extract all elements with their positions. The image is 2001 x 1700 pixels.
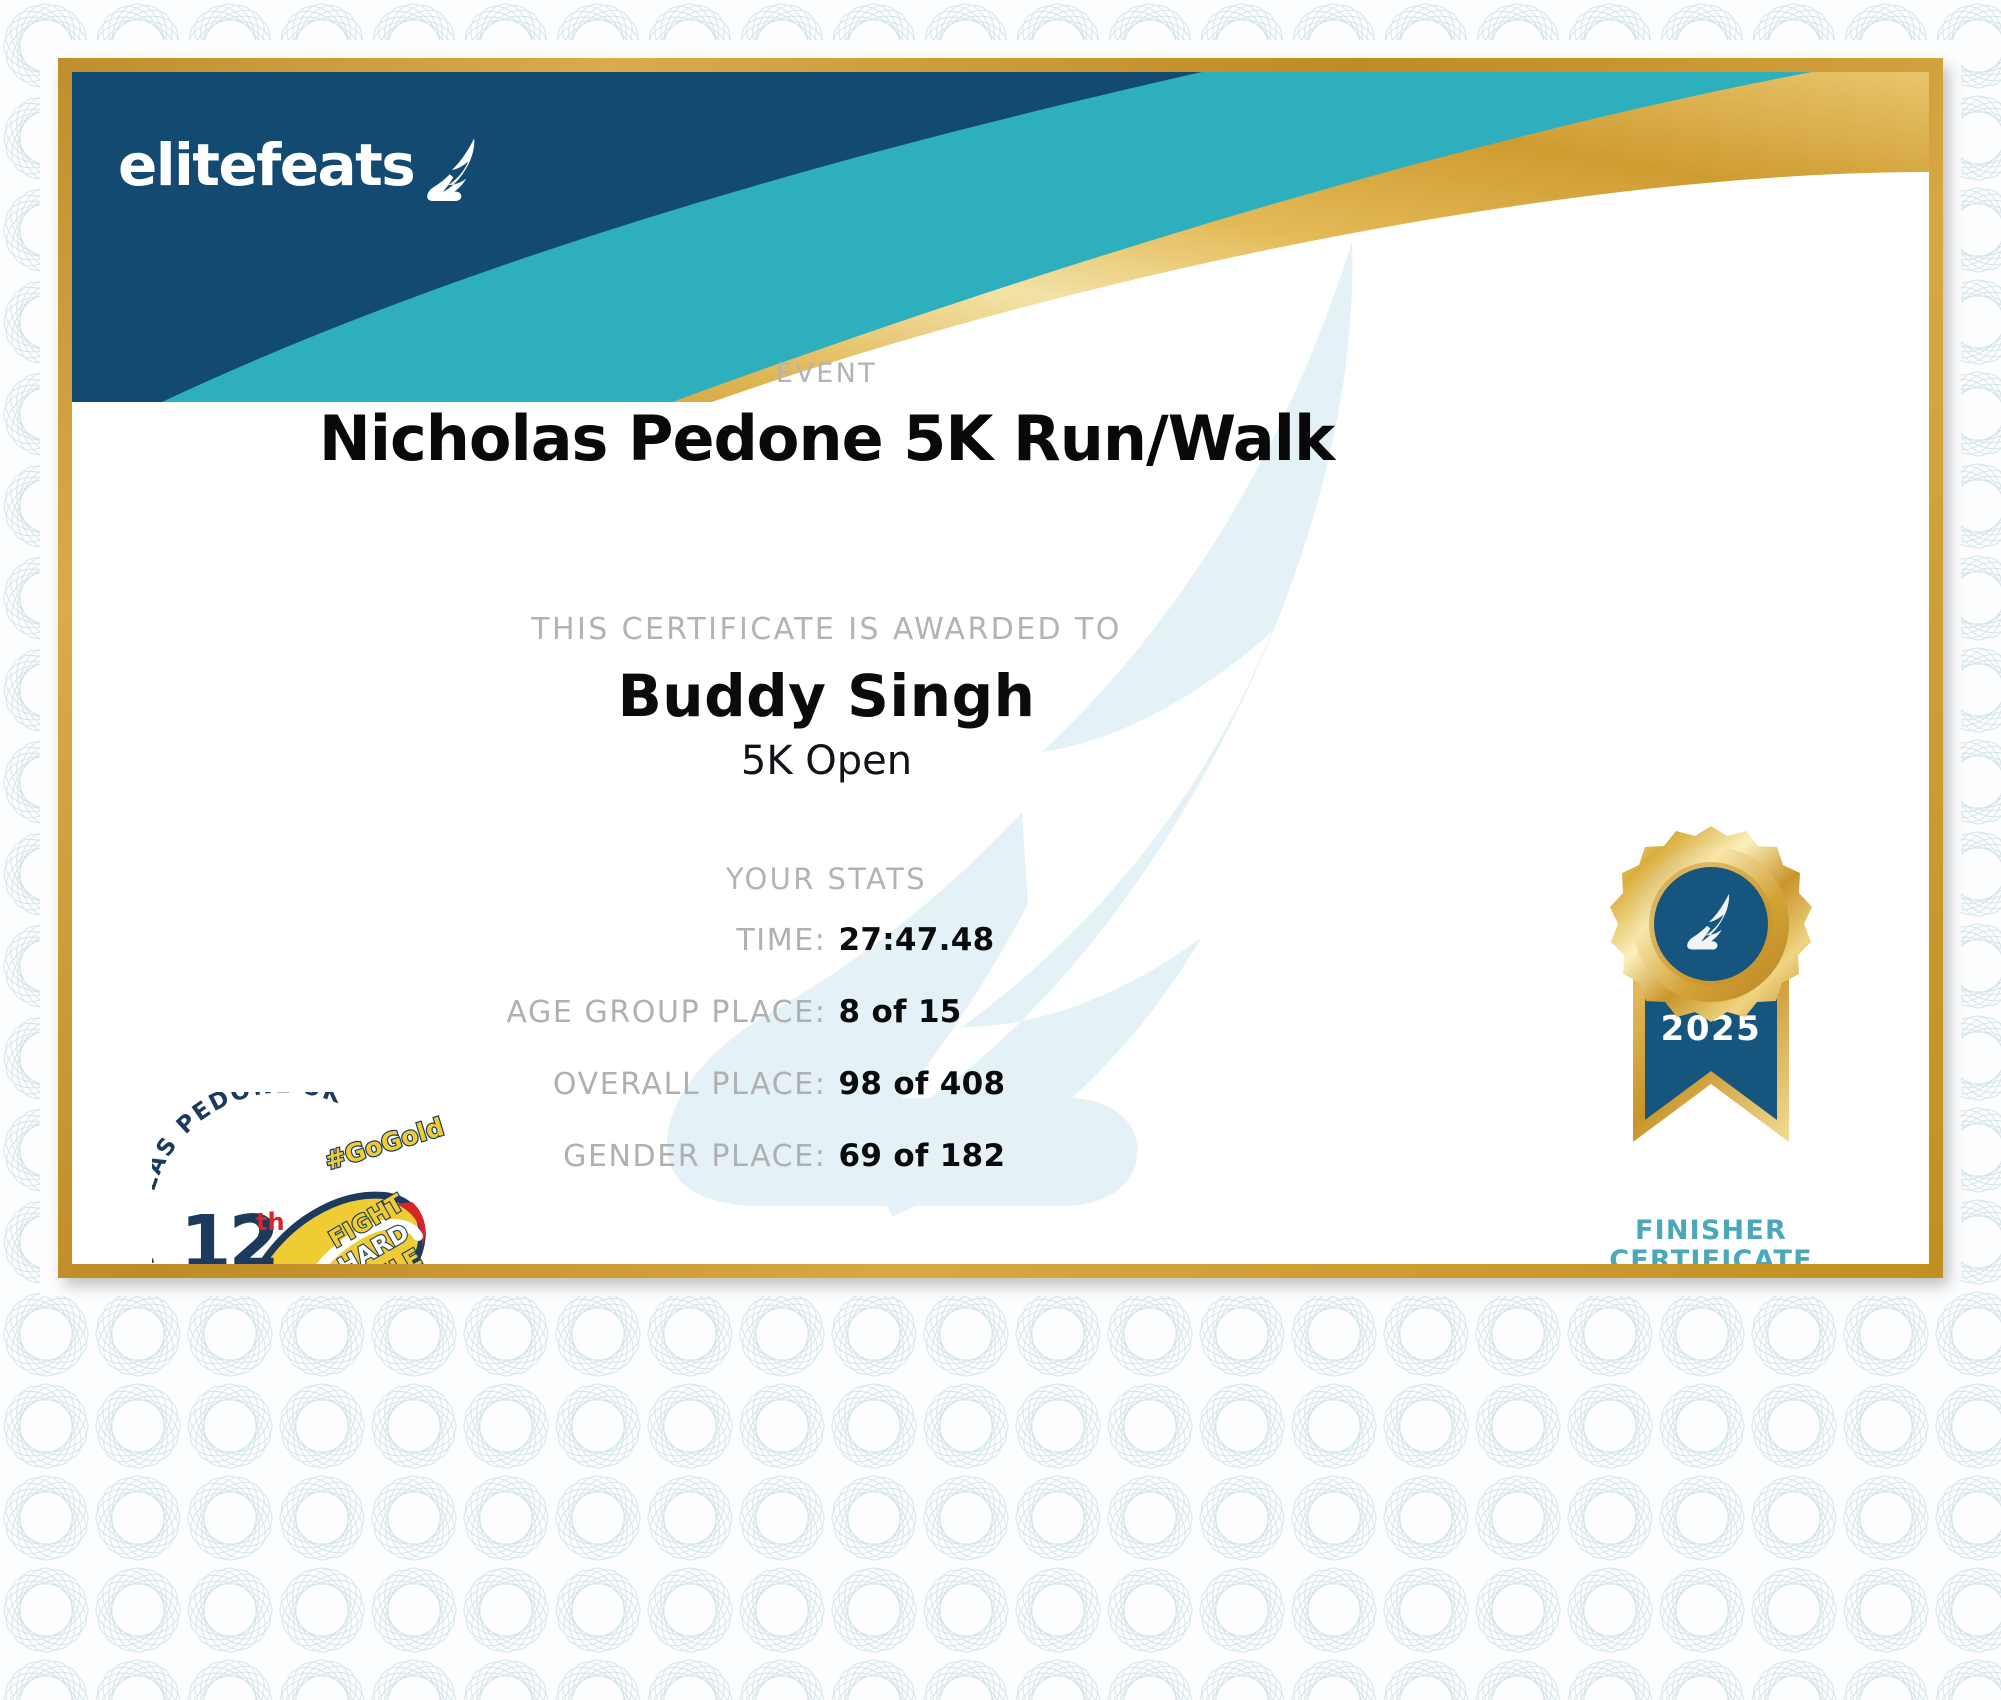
medal-caption-line1: FINISHER — [1561, 1216, 1861, 1246]
certificate-inner-card: elitefeats EVENT — [72, 72, 1929, 1264]
stat-label-gender-place: GENDER PLACE: — [407, 1139, 827, 1174]
certificate-content: EVENT Nicholas Pedone 5K Run/Walk THIS C… — [72, 72, 1929, 1264]
certificate-page: elitefeats EVENT — [0, 0, 2001, 1700]
medal-caption-line2: CERTIFICATE — [1561, 1246, 1861, 1264]
medal-caption: FINISHER CERTIFICATE — [1561, 1216, 1861, 1264]
event-label: EVENT — [72, 358, 1929, 389]
race-logo-hashtag: #GoGold — [321, 1112, 447, 1176]
brand-name: elitefeats — [118, 136, 414, 194]
stat-row-age-group-place: AGE GROUP PLACE: 8 of 15 — [72, 994, 1581, 1050]
stat-label-age-group-place: AGE GROUP PLACE: — [407, 995, 827, 1030]
gold-certificate-frame: elitefeats EVENT — [58, 58, 1943, 1278]
stat-label-overall-place: OVERALL PLACE: — [407, 1067, 827, 1102]
recipient-name: Buddy Singh — [72, 662, 1929, 730]
race-event-logo: NICHOLAS PEDONE 5K — [152, 1092, 452, 1264]
brand-logo: elitefeats — [118, 134, 490, 194]
finisher-medal-badge: 2025 — [1561, 812, 1861, 1264]
stat-value-overall-place: 98 of 408 — [827, 1066, 1247, 1102]
stat-value-age-group-place: 8 of 15 — [827, 994, 1247, 1030]
race-logo-edition-suffix: th — [256, 1208, 285, 1236]
stat-row-time: TIME: 27:47.48 — [72, 922, 1581, 978]
awarded-to-label: THIS CERTIFICATE IS AWARDED TO — [72, 612, 1929, 647]
recipient-division: 5K Open — [72, 738, 1929, 784]
stat-value-gender-place: 69 of 182 — [827, 1138, 1247, 1174]
event-title: Nicholas Pedone 5K Run/Walk — [72, 402, 1929, 475]
stat-label-time: TIME: — [407, 923, 827, 958]
winged-foot-icon — [418, 134, 490, 206]
stat-value-time: 27:47.48 — [827, 922, 1247, 958]
